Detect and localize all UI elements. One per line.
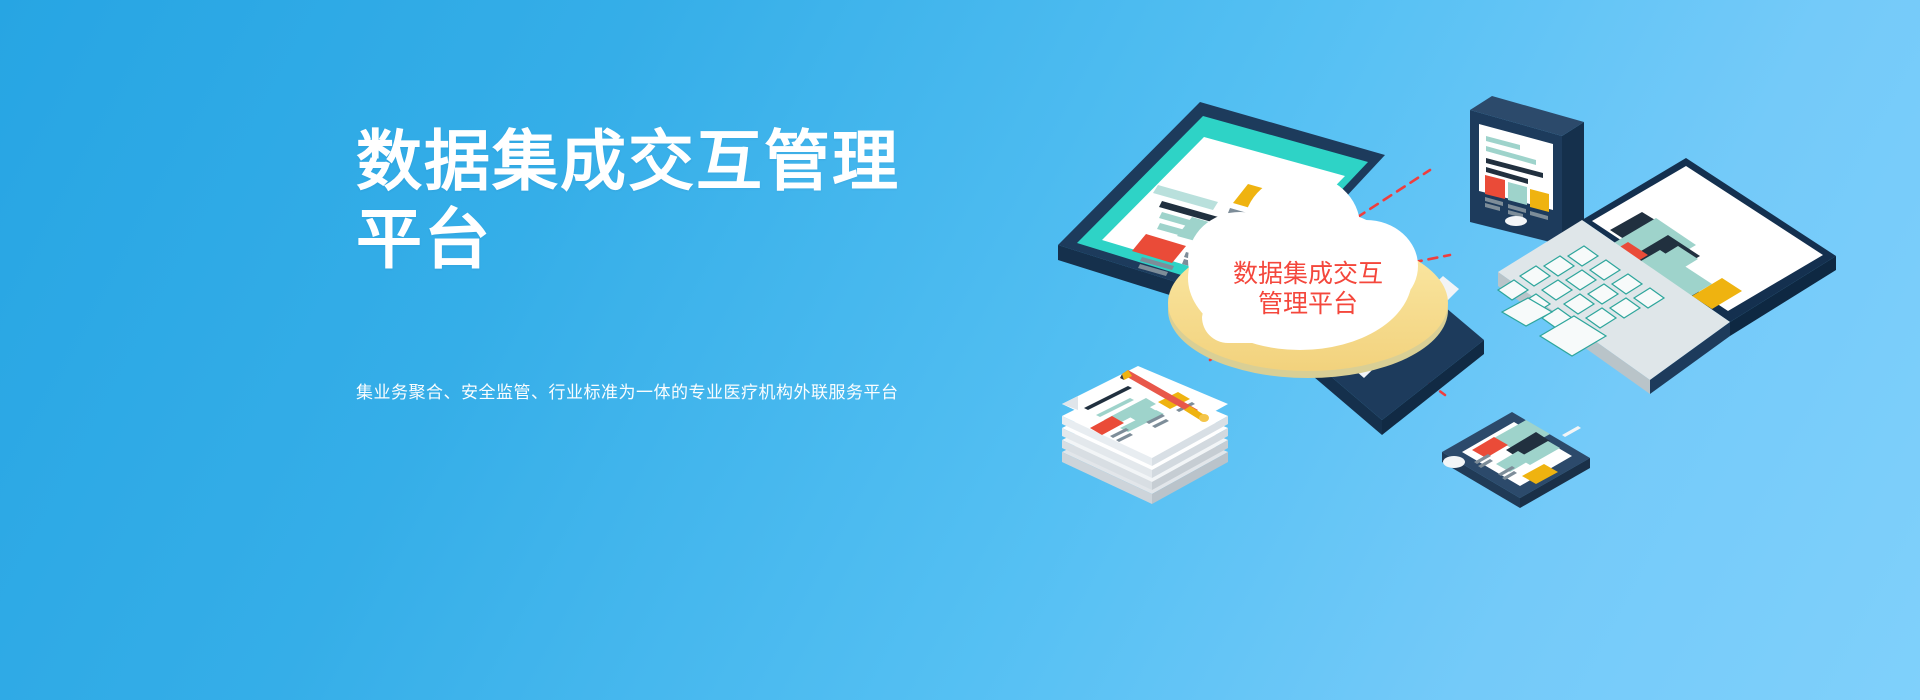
- hero-banner: 数据集成交互管理 平台 集业务聚合、安全监管、行业标准为一体的专业医疗机构外联服…: [0, 0, 1920, 700]
- hero-text-block: 数据集成交互管理 平台: [356, 122, 1036, 278]
- smartphone-speaker: [1562, 426, 1581, 437]
- page-title: 数据集成交互管理 平台: [356, 122, 1036, 278]
- cloud-label-line2: 管理平台: [1258, 290, 1358, 318]
- smartphone: [1442, 412, 1590, 508]
- smartphone-home-button: [1443, 456, 1465, 468]
- tablet-home-button: [1505, 216, 1527, 226]
- document-stack: [1062, 366, 1228, 504]
- hero-subtitle: 集业务聚合、安全监管、行业标准为一体的专业医疗机构外联服务平台: [356, 380, 899, 406]
- cloud-label-line1: 数据集成交互: [1233, 260, 1383, 288]
- isometric-illustration: 数据集成交互 管理平台: [1050, 60, 1850, 620]
- tablet: [1470, 96, 1584, 245]
